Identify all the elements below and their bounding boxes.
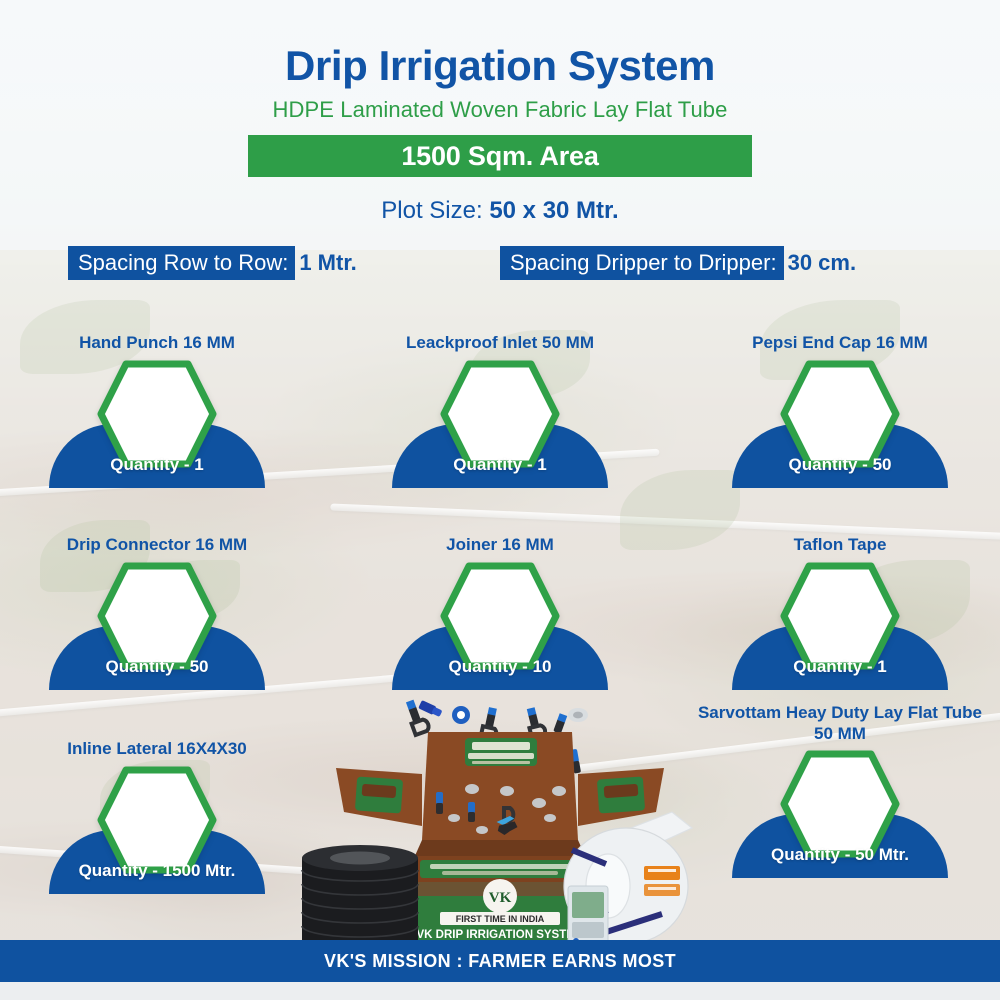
spacing-row-to-row-value: 1 Mtr.: [295, 246, 356, 280]
lateral-coil-stack: [302, 845, 418, 952]
product-hexagon: [438, 560, 562, 672]
product-quantity: Quantity - 10: [350, 657, 650, 677]
plot-size-value: 50 x 30 Mtr.: [489, 197, 618, 224]
product-hexagon: [95, 764, 219, 876]
poster-header: Drip Irrigation System HDPE Laminated Wo…: [0, 0, 1000, 225]
product-card-joiner: Joiner 16 MM Quantity - 10: [350, 512, 650, 690]
product-title: Pepsi End Cap 16 MM: [690, 310, 990, 354]
product-quantity: Quantity - 1: [7, 455, 307, 475]
product-hexagon: [95, 358, 219, 470]
product-art: Quantity - 50: [7, 560, 307, 690]
product-title: Inline Lateral 16X4X30: [7, 716, 307, 760]
spacing-dripper-to-dripper-value: 30 cm.: [784, 246, 857, 280]
product-title: Leackproof Inlet 50 MM: [350, 310, 650, 354]
product-hexagon: [778, 560, 902, 672]
product-card-taflon-tape: Taflon Tape Quantity - 1: [690, 512, 990, 690]
product-quantity: Quantity - 1500 Mtr.: [7, 861, 307, 881]
product-art: Quantity - 1: [690, 560, 990, 690]
plot-size-label: Plot Size:: [381, 197, 482, 224]
product-quantity: Quantity - 1: [690, 657, 990, 677]
product-art: Quantity - 10: [350, 560, 650, 690]
product-art: Quantity - 50: [690, 358, 990, 488]
product-art: Quantity - 1: [7, 358, 307, 488]
product-hexagon: [95, 560, 219, 672]
spacing-dripper-to-dripper-label: Spacing Dripper to Dripper:: [500, 246, 784, 280]
product-quantity: Quantity - 1: [350, 455, 650, 475]
footer-text: VK'S MISSION : FARMER EARNS MOST: [324, 951, 676, 972]
product-hexagon: [778, 358, 902, 470]
product-card-inline-lateral: Inline Lateral 16X4X30 Quantity - 1: [7, 716, 307, 894]
product-card-hand-punch: Hand Punch 16 MM Quantity - 1: [7, 310, 307, 488]
footer-banner: VK'S MISSION : FARMER EARNS MOST: [0, 940, 1000, 982]
product-card-lay-flat-tube: Sarvottam Heay Duty Lay Flat Tube 50 MM: [690, 692, 990, 878]
product-title: Drip Connector 16 MM: [7, 512, 307, 556]
spacing-row-to-row: Spacing Row to Row: 1 Mtr.: [68, 246, 357, 280]
footer-base-strip: [0, 982, 1000, 1000]
box-body: VK FIRST TIME IN INDIA VK DRIP IRRIGATIO…: [414, 840, 586, 949]
product-card-pepsi-end-cap: Pepsi End Cap 16 MM Quantity - 50: [690, 310, 990, 488]
page-title: Drip Irrigation System: [0, 44, 1000, 88]
product-quantity: Quantity - 50: [690, 455, 990, 475]
spacing-row: Spacing Row to Row: 1 Mtr. Spacing Dripp…: [0, 246, 1000, 280]
product-art: Quantity - 50 Mtr.: [690, 748, 990, 878]
spacing-dripper-to-dripper: Spacing Dripper to Dripper: 30 cm.: [500, 246, 856, 280]
product-quantity: Quantity - 50: [7, 657, 307, 677]
product-card-leackproof-inlet: Leackproof Inlet 50 MM: [350, 310, 650, 488]
product-quantity: Quantity - 50 Mtr.: [690, 845, 990, 865]
product-title: Taflon Tape: [690, 512, 990, 556]
product-art: Quantity - 1500 Mtr.: [7, 764, 307, 894]
vk-logo-text: VK: [489, 890, 512, 906]
page-subtitle: HDPE Laminated Woven Fabric Lay Flat Tub…: [0, 97, 1000, 123]
product-title: Hand Punch 16 MM: [7, 310, 307, 354]
plot-size: Plot Size: 50 x 30 Mtr.: [0, 197, 1000, 225]
area-band: 1500 Sqm. Area: [248, 135, 752, 177]
product-hexagon: [438, 358, 562, 470]
product-title: Joiner 16 MM: [350, 512, 650, 556]
product-card-drip-connector: Drip Connector 16 MM Quantity - 50: [7, 512, 307, 690]
product-pouch: [568, 886, 608, 944]
poster-canvas: Drip Irrigation System HDPE Laminated Wo…: [0, 0, 1000, 1000]
product-hexagon: [778, 748, 902, 860]
area-band-label: 1500 Sqm. Area: [401, 141, 598, 172]
spacing-row-to-row-label: Spacing Row to Row:: [68, 246, 295, 280]
box-badge-text: FIRST TIME IN INDIA: [456, 914, 545, 924]
box-rear-panel: [422, 732, 578, 840]
product-title: Sarvottam Heay Duty Lay Flat Tube 50 MM: [690, 692, 990, 744]
hero-product-box: VK FIRST TIME IN INDIA VK DRIP IRRIGATIO…: [300, 690, 700, 952]
product-art: Quantity - 1: [350, 358, 650, 488]
